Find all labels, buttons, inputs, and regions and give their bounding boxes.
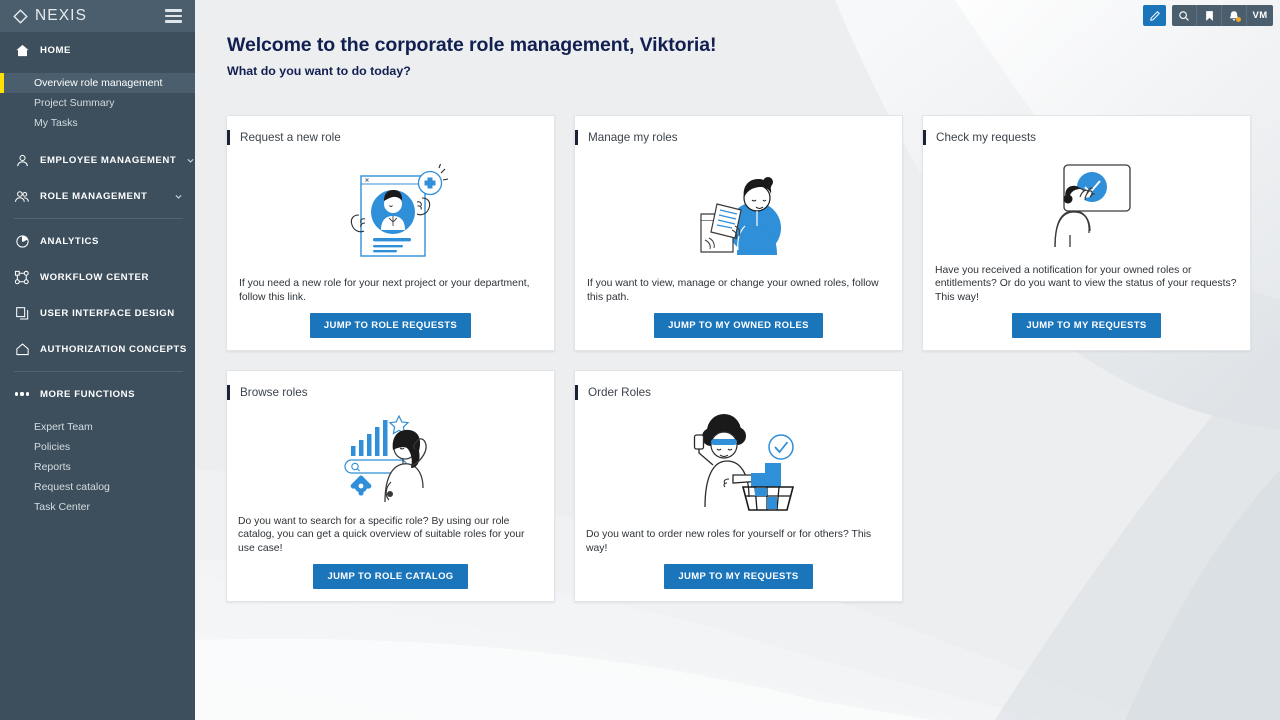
- sidebar-group-label: ANALYTICS: [40, 236, 183, 247]
- card-title-row: Browse roles: [227, 371, 554, 400]
- card-title-row: Check my requests: [923, 116, 1250, 145]
- sidebar-item-label: Reports: [34, 461, 71, 473]
- home-icon: [14, 42, 30, 58]
- bell-notification-icon[interactable]: [1222, 5, 1247, 26]
- card-button-row: JUMP TO MY REQUESTS: [923, 305, 1250, 350]
- card-description: Do you want to search for a specific rol…: [227, 515, 554, 556]
- page-title: Welcome to the corporate role management…: [227, 34, 716, 57]
- sidebar-item-reports[interactable]: Reports: [0, 457, 195, 477]
- person-search-bar-chart-illustration: [227, 400, 554, 515]
- sidebar-group-label: USER INTERFACE DESIGN: [40, 308, 183, 319]
- avatar[interactable]: VM: [1247, 5, 1273, 26]
- notification-badge-dot: [1236, 17, 1241, 22]
- sidebar-group-more-functions[interactable]: MORE FUNCTIONS: [0, 376, 195, 412]
- users-icon: [14, 188, 30, 204]
- sidebar-group-authorization-concepts[interactable]: AUTHORIZATION CONCEPTS: [0, 331, 195, 367]
- sidebar-item-label: Request catalog: [34, 481, 110, 493]
- card-button-row: JUMP TO ROLE REQUESTS: [227, 305, 554, 350]
- toolbar-button-group: VM: [1172, 5, 1273, 26]
- card-title: Order Roles: [588, 386, 651, 399]
- card-check-my-requests[interactable]: Check my requests: [922, 115, 1251, 351]
- card-accent-bar: [575, 130, 578, 145]
- diamond-logo-icon: [13, 9, 28, 24]
- card-title: Request a new role: [240, 131, 341, 144]
- page-subtitle: What do you want to do today?: [227, 64, 716, 78]
- sidebar-item-overview-role-management[interactable]: Overview role management: [0, 73, 195, 93]
- sidebar-item-label: Task Center: [34, 501, 90, 513]
- card-title-row: Request a new role: [227, 116, 554, 145]
- card-button-row: JUMP TO MY REQUESTS: [575, 556, 902, 601]
- card-title: Check my requests: [936, 131, 1036, 144]
- card-accent-bar: [923, 130, 926, 145]
- card-title-row: Manage my roles: [575, 116, 902, 145]
- dashboard-card-grid: Request a new role: [226, 115, 1252, 602]
- id-card-person-plus-illustration: [227, 145, 554, 277]
- sidebar-item-label: My Tasks: [34, 117, 78, 129]
- jump-to-my-owned-roles-button[interactable]: JUMP TO MY OWNED ROLES: [654, 313, 823, 338]
- card-accent-bar: [227, 130, 230, 145]
- sidebar-item-label: Expert Team: [34, 421, 93, 433]
- application-root: NEXIS HOME Overview role management Proj…: [0, 0, 1280, 720]
- pie-chart-icon: [14, 233, 30, 249]
- person-whiteboard-checkmark-illustration: [923, 145, 1250, 264]
- card-accent-bar: [227, 385, 230, 400]
- sidebar-group-home[interactable]: HOME: [0, 32, 195, 68]
- sidebar-group-user-interface-design[interactable]: USER INTERFACE DESIGN: [0, 295, 195, 331]
- hamburger-menu-icon[interactable]: [164, 6, 183, 26]
- sidebar-group-label: WORKFLOW CENTER: [40, 272, 183, 283]
- user-icon: [14, 152, 30, 168]
- card-browse-roles[interactable]: Browse roles: [226, 370, 555, 602]
- sidebar-item-request-catalog[interactable]: Request catalog: [0, 477, 195, 497]
- sidebar-group-role-management[interactable]: ROLE MANAGEMENT: [0, 178, 195, 214]
- card-request-a-new-role[interactable]: Request a new role: [226, 115, 555, 351]
- sidebar-group-label: HOME: [40, 45, 183, 56]
- card-button-row: JUMP TO ROLE CATALOG: [227, 556, 554, 601]
- card-accent-bar: [575, 385, 578, 400]
- main-content: VM Welcome to the corporate role managem…: [195, 0, 1280, 720]
- sidebar-group-label: ROLE MANAGEMENT: [40, 191, 164, 202]
- sidebar-divider: [14, 371, 183, 372]
- brand-bar: NEXIS: [0, 0, 195, 32]
- pencil-edit-icon[interactable]: [1143, 5, 1166, 26]
- card-title: Manage my roles: [588, 131, 678, 144]
- top-toolbar: VM: [1143, 5, 1273, 26]
- card-button-row: JUMP TO MY OWNED ROLES: [575, 305, 902, 350]
- sidebar-item-label: Policies: [34, 441, 70, 453]
- card-description: If you want to view, manage or change yo…: [575, 277, 902, 305]
- sidebar-item-task-center[interactable]: Task Center: [0, 497, 195, 517]
- layers-icon: [14, 305, 30, 321]
- bookmark-icon[interactable]: [1197, 5, 1222, 26]
- sidebar-item-project-summary[interactable]: Project Summary: [0, 93, 195, 113]
- jump-to-role-catalog-button[interactable]: JUMP TO ROLE CATALOG: [313, 564, 467, 589]
- search-icon[interactable]: [1172, 5, 1197, 26]
- sidebar-item-expert-team[interactable]: Expert Team: [0, 417, 195, 437]
- card-description: Do you want to order new roles for yours…: [575, 528, 902, 556]
- sidebar: NEXIS HOME Overview role management Proj…: [0, 0, 195, 720]
- card-manage-my-roles[interactable]: Manage my roles: [574, 115, 903, 351]
- sidebar-item-policies[interactable]: Policies: [0, 437, 195, 457]
- sidebar-nav: HOME Overview role management Project Su…: [0, 32, 195, 720]
- sidebar-group-label: EMPLOYEE MANAGEMENT: [40, 155, 176, 166]
- workflow-nodes-icon: [14, 269, 30, 285]
- sidebar-item-label: Overview role management: [34, 77, 162, 89]
- sidebar-group-employee-management[interactable]: EMPLOYEE MANAGEMENT: [0, 142, 195, 178]
- brand-left: NEXIS: [13, 7, 87, 25]
- chevron-down-icon[interactable]: [174, 192, 183, 201]
- card-description: If you need a new role for your next pro…: [227, 277, 554, 305]
- jump-to-my-requests-button-2[interactable]: JUMP TO MY REQUESTS: [664, 564, 812, 589]
- page-header: Welcome to the corporate role management…: [227, 34, 716, 78]
- sidebar-group-label: AUTHORIZATION CONCEPTS: [40, 344, 187, 355]
- card-title: Browse roles: [240, 386, 308, 399]
- three-dots-icon: [14, 386, 30, 402]
- person-folder-documents-illustration: [575, 145, 902, 277]
- sidebar-divider: [14, 218, 183, 219]
- person-shopping-basket-illustration: [575, 400, 902, 528]
- jump-to-my-requests-button[interactable]: JUMP TO MY REQUESTS: [1012, 313, 1160, 338]
- sidebar-group-analytics[interactable]: ANALYTICS: [0, 223, 195, 259]
- brand-name: NEXIS: [35, 7, 87, 25]
- sidebar-group-label: MORE FUNCTIONS: [40, 389, 183, 400]
- chevron-down-icon[interactable]: [186, 156, 195, 165]
- card-order-roles[interactable]: Order Roles: [574, 370, 903, 602]
- sidebar-group-workflow-center[interactable]: WORKFLOW CENTER: [0, 259, 195, 295]
- shield-home-icon: [14, 341, 30, 357]
- jump-to-role-requests-button[interactable]: JUMP TO ROLE REQUESTS: [310, 313, 471, 338]
- sidebar-item-label: Project Summary: [34, 97, 115, 109]
- card-title-row: Order Roles: [575, 371, 902, 400]
- sidebar-item-my-tasks[interactable]: My Tasks: [0, 113, 195, 133]
- card-description: Have you received a notification for you…: [923, 264, 1250, 305]
